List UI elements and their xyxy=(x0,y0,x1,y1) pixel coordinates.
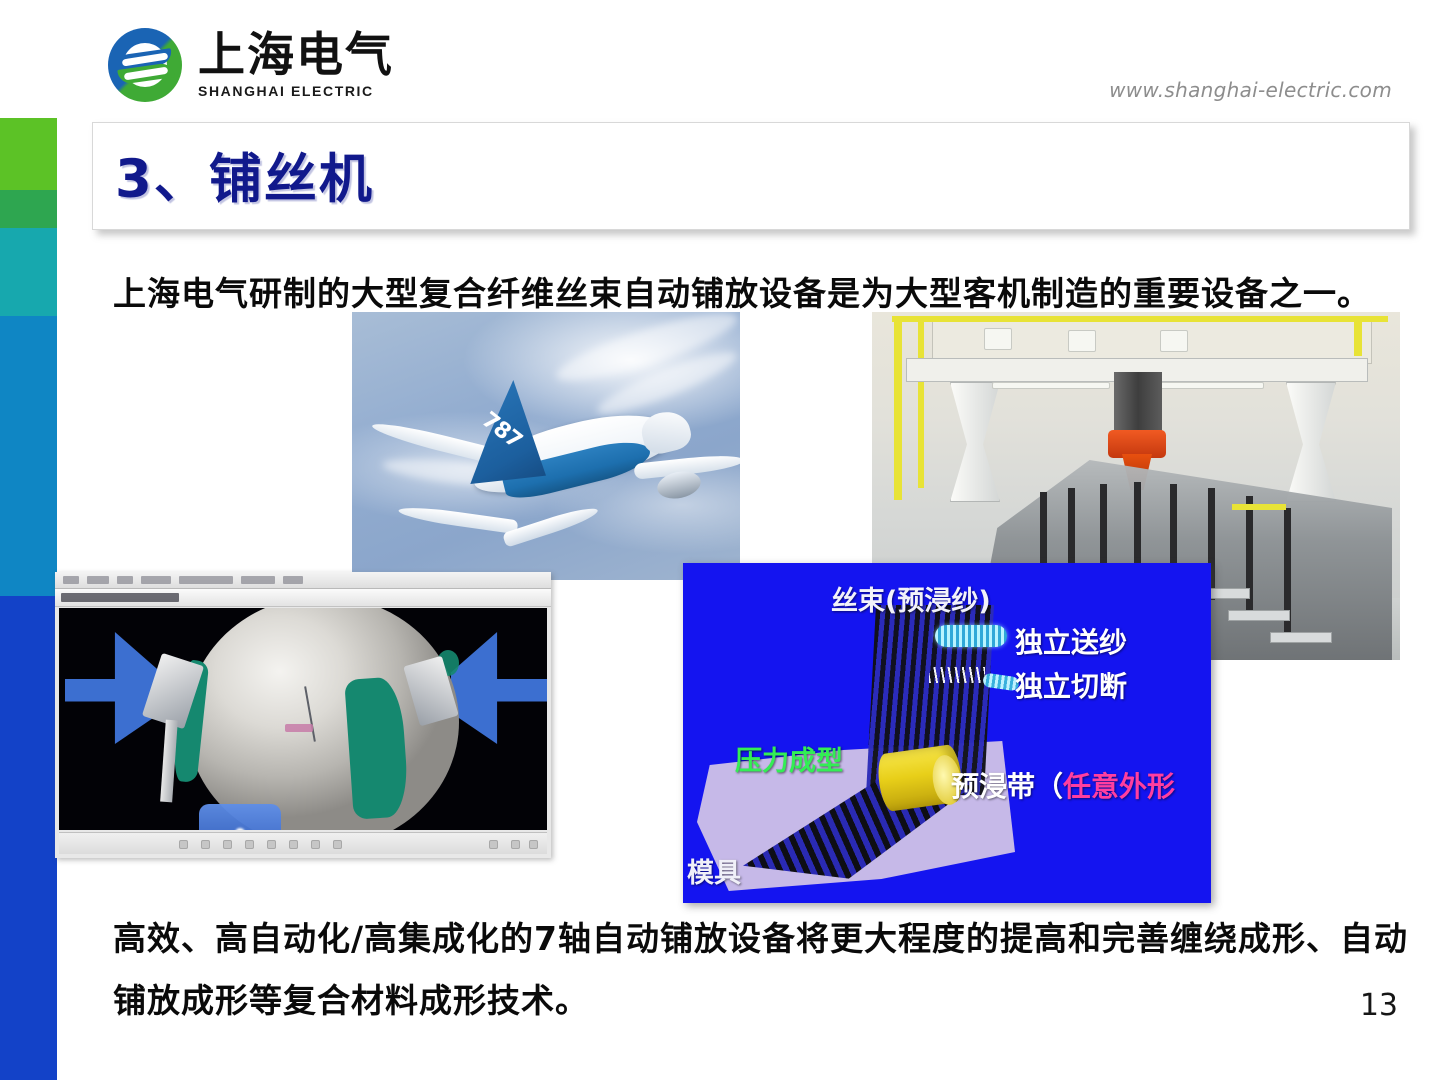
cad-status-icon[interactable] xyxy=(267,840,276,849)
cad-menu-item[interactable] xyxy=(117,576,133,584)
tool-rib xyxy=(1040,492,1047,564)
cad-simulation-window xyxy=(55,572,551,858)
cad-status-icon[interactable] xyxy=(179,840,188,849)
diagram-label-cut: 独立切断 xyxy=(1015,665,1127,705)
brand-logo: 上海电气 SHANGHAI ELECTRIC xyxy=(108,28,394,102)
tool-rib xyxy=(1068,488,1075,568)
cad-menu-item[interactable] xyxy=(283,576,303,584)
machine-head-block xyxy=(1114,372,1162,438)
cad-annotation-marker xyxy=(285,724,313,732)
diagram-label-tape: 预浸带（任意外形 xyxy=(951,765,1175,805)
website-url: www.shanghai-electric.com xyxy=(1109,78,1392,102)
cad-status-bar xyxy=(59,832,547,854)
yellow-frame-left-inner xyxy=(918,316,924,488)
tool-plate xyxy=(1228,610,1290,621)
ceiling-lamp xyxy=(984,328,1012,350)
rail-band-darkgreen xyxy=(0,190,57,228)
machine-head-orange xyxy=(1108,430,1166,458)
cad-menu-bar[interactable] xyxy=(55,572,551,589)
cad-status-icon[interactable] xyxy=(289,840,298,849)
rail-divider xyxy=(57,0,60,1080)
cad-support-left xyxy=(65,632,161,744)
cad-status-icon[interactable] xyxy=(333,840,342,849)
ceiling-lamp xyxy=(1068,330,1096,352)
slide-header: 上海电气 SHANGHAI ELECTRIC www.shanghai-elec… xyxy=(0,0,1440,118)
yellow-rail-top xyxy=(892,316,1388,322)
rail-band-green xyxy=(0,106,57,190)
shanghai-electric-logo-icon xyxy=(108,28,182,102)
cad-menu-item[interactable] xyxy=(141,576,171,584)
cad-status-icon[interactable] xyxy=(511,840,520,849)
diagram-label-tape-prefix: 预浸带（ xyxy=(951,770,1063,803)
yellow-frame-right xyxy=(1354,316,1362,356)
floor-marking xyxy=(1232,504,1286,510)
fiber-placement-schematic: 丝束(预浸纱) 独立送纱 独立切断 压力成型 预浸带（任意外形 模具 xyxy=(683,563,1211,903)
rail-band-blue xyxy=(0,316,57,596)
cad-support-right xyxy=(451,632,547,744)
conclusion-paragraph: 高效、高自动化/高集成化的7轴自动铺放设备将更大程度的提高和完善缠绕成形、自动铺… xyxy=(113,908,1413,1032)
cad-status-icon[interactable] xyxy=(245,840,254,849)
cad-3d-viewport[interactable] xyxy=(59,608,547,830)
cad-title-bar xyxy=(55,589,551,607)
cad-menu-item[interactable] xyxy=(63,576,79,584)
cad-menu-item[interactable] xyxy=(241,576,275,584)
strip-light xyxy=(1154,382,1264,389)
rail-band-teal xyxy=(0,228,57,316)
diagram-label-feed: 独立送纱 xyxy=(1015,621,1127,661)
left-color-rail xyxy=(0,0,57,1080)
diagram-label-press: 压力成型 xyxy=(735,739,843,778)
diagram-cut-marks xyxy=(929,667,985,683)
tool-plate xyxy=(1270,632,1332,643)
diagram-label-mold: 模具 xyxy=(687,851,741,890)
diagram-label-tape-highlight: 任意外形 xyxy=(1063,770,1175,803)
cad-status-icon[interactable] xyxy=(223,840,232,849)
cad-status-icon[interactable] xyxy=(489,840,498,849)
cad-title-label xyxy=(61,593,179,602)
page-title: 3、铺丝机 xyxy=(115,137,374,213)
cad-transport-cart xyxy=(199,804,281,830)
airplane-photo: 787 xyxy=(352,312,740,580)
cad-status-icon[interactable] xyxy=(311,840,320,849)
title-card: 3、铺丝机 xyxy=(92,122,1410,230)
cad-status-icon[interactable] xyxy=(201,840,210,849)
cad-status-icon[interactable] xyxy=(529,840,538,849)
rail-band-deepblue xyxy=(0,596,57,1080)
logo-text-chinese: 上海电气 xyxy=(198,32,394,79)
tool-rib xyxy=(1100,484,1107,572)
cad-menu-item[interactable] xyxy=(87,576,109,584)
logo-text-english: SHANGHAI ELECTRIC xyxy=(198,83,394,99)
yellow-frame-left xyxy=(894,316,902,500)
strip-light xyxy=(992,382,1110,389)
diagram-label-tow: 丝束(预浸纱) xyxy=(831,579,991,618)
cad-menu-item[interactable] xyxy=(179,576,233,584)
ceiling-lamp xyxy=(1160,330,1188,352)
diagram-feed-unit xyxy=(935,625,1007,647)
page-number: 13 xyxy=(1360,988,1398,1023)
